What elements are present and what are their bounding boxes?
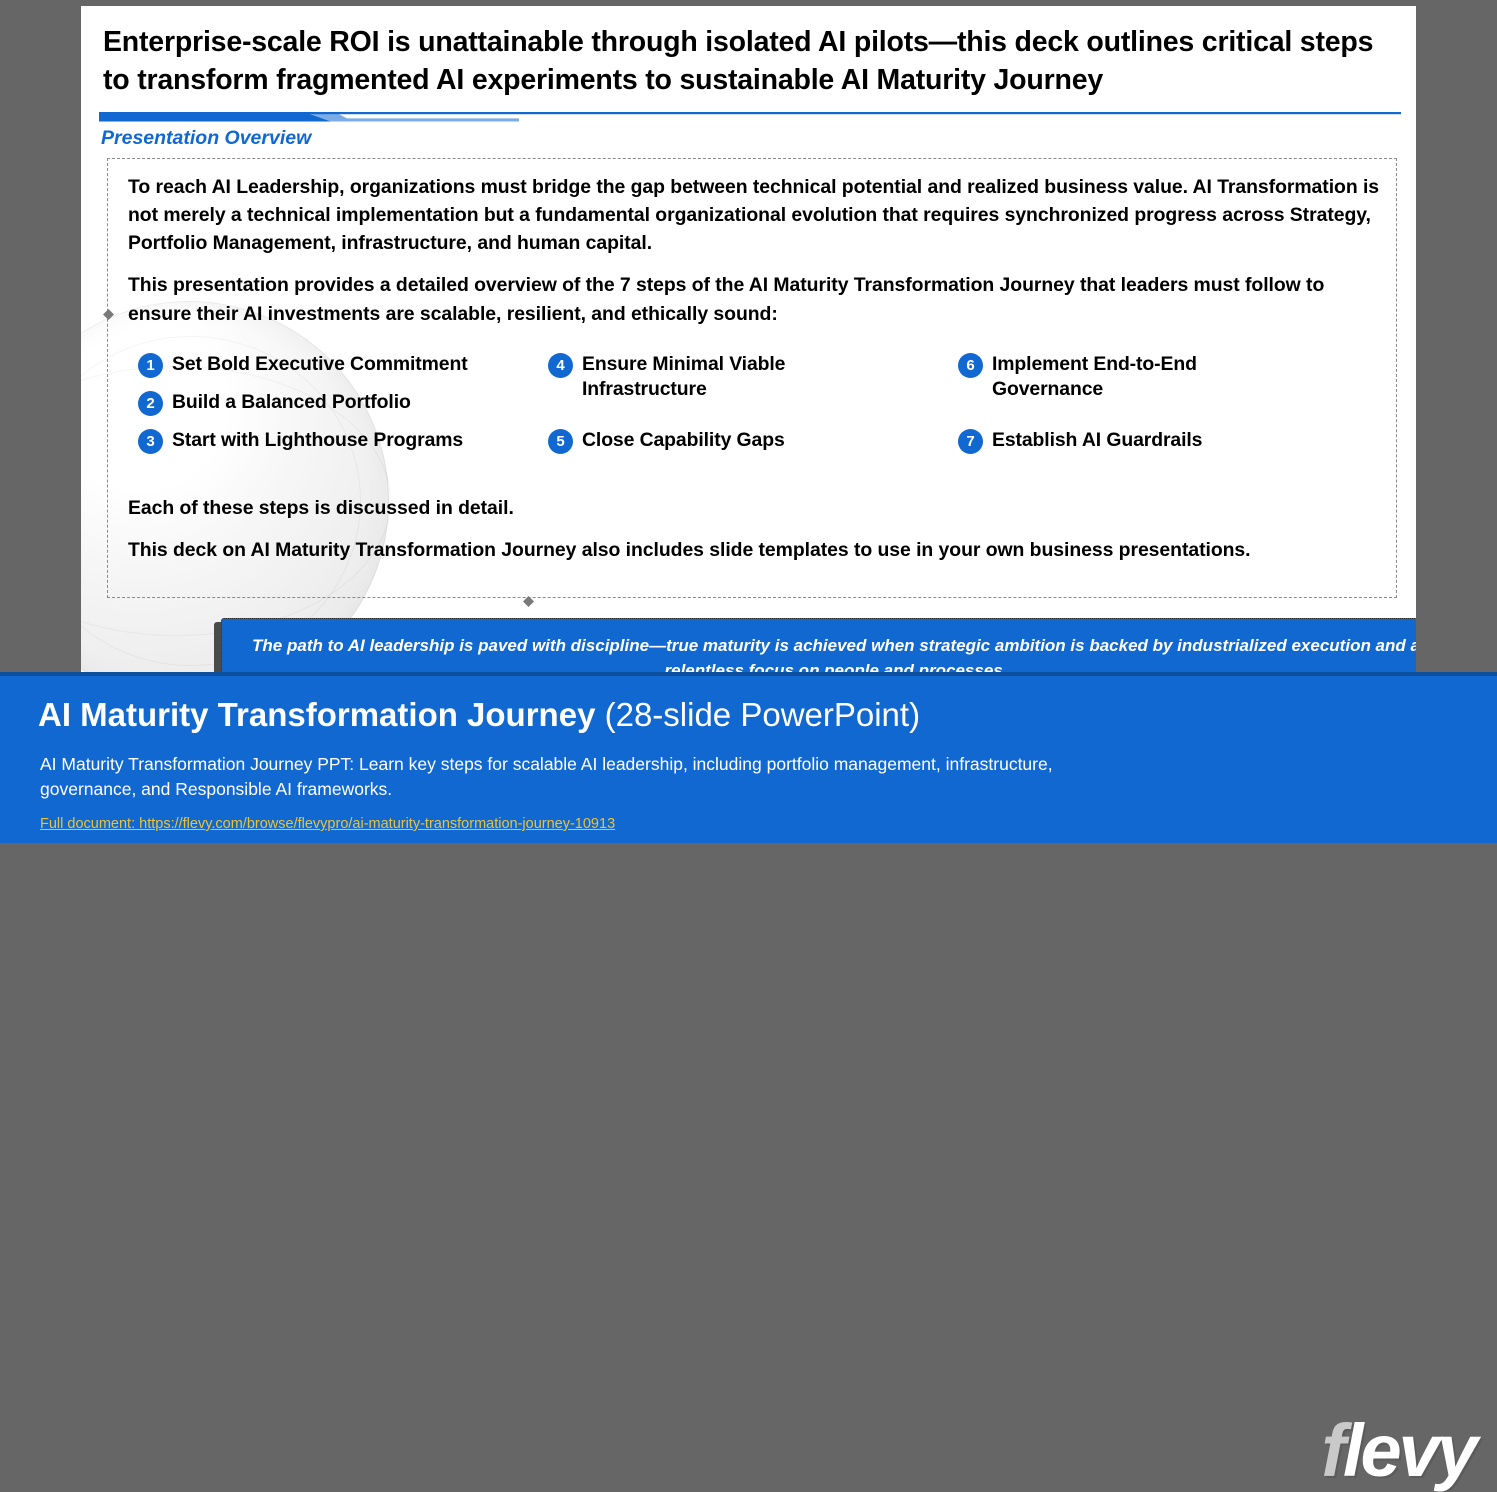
step-item-5[interactable]: 5 Close Capability Gaps <box>548 423 958 461</box>
callout-text: The path to AI leadership is paved with … <box>252 634 1416 672</box>
footer-document-link[interactable]: Full document: https://flevy.com/browse/… <box>40 816 615 832</box>
overview-tail: Each of these steps is discussed in deta… <box>128 494 1380 578</box>
slide-canvas: Enterprise-scale ROI is unattainable thr… <box>81 6 1416 672</box>
step-number-badge-6: 6 <box>958 353 983 378</box>
footer-product-title: AI Maturity Transformation Journey (28-s… <box>38 696 920 734</box>
steps-grid: 1 Set Bold Executive Commitment 2 Build … <box>138 347 1378 461</box>
flevy-logo-rest: levy <box>1343 1409 1475 1492</box>
step-number-badge-5: 5 <box>548 429 573 454</box>
callout-box: The path to AI leadership is paved with … <box>221 618 1416 672</box>
resize-handle-bottom-icon[interactable] <box>523 596 534 607</box>
footer-title-light: (28-slide PowerPoint) <box>595 696 920 733</box>
step-item-1[interactable]: 1 Set Bold Executive Commitment <box>138 347 548 385</box>
section-label: Presentation Overview <box>101 127 311 150</box>
presentation-overview-box[interactable]: To reach AI Leadership, organizations mu… <box>107 158 1397 598</box>
overview-intro: To reach AI Leadership, organizations mu… <box>128 173 1380 342</box>
step-label-1: Set Bold Executive Commitment <box>172 352 468 377</box>
step-label-2: Build a Balanced Portfolio <box>172 390 411 415</box>
screenshot-root: Enterprise-scale ROI is unattainable thr… <box>0 0 1497 843</box>
step-number-badge-3: 3 <box>138 429 163 454</box>
step-number-badge-7: 7 <box>958 429 983 454</box>
flevy-logo-f: f <box>1321 1409 1343 1492</box>
step-number-badge-2: 2 <box>138 391 163 416</box>
intro-paragraph-2: This presentation provides a detailed ov… <box>128 271 1380 327</box>
key-message-callout: The path to AI leadership is paved with … <box>214 618 1416 672</box>
flevy-logo[interactable]: flevy <box>1321 1414 1475 1488</box>
step-item-7[interactable]: 7 Establish AI Guardrails <box>958 423 1368 461</box>
step-number-badge-1: 1 <box>138 353 163 378</box>
step-item-2[interactable]: 2 Build a Balanced Portfolio <box>138 385 548 423</box>
step-item-6[interactable]: 6 Implement End-to-End Governance <box>958 347 1368 423</box>
slide-title: Enterprise-scale ROI is unattainable thr… <box>103 24 1393 99</box>
step-label-7: Establish AI Guardrails <box>992 428 1202 453</box>
resize-handle-left-icon[interactable] <box>103 309 114 320</box>
tail-paragraph-1: Each of these steps is discussed in deta… <box>128 494 1380 522</box>
step-label-3: Start with Lighthouse Programs <box>172 428 463 453</box>
title-divider <box>99 112 1401 124</box>
flevy-footer-bar: AI Maturity Transformation Journey (28-s… <box>0 672 1497 843</box>
step-label-4: Ensure Minimal Viable Infrastructure <box>582 352 882 402</box>
footer-description: AI Maturity Transformation Journey PPT: … <box>40 752 1100 803</box>
step-item-3[interactable]: 3 Start with Lighthouse Programs <box>138 423 548 461</box>
footer-title-bold: AI Maturity Transformation Journey <box>38 696 595 733</box>
step-label-6: Implement End-to-End Governance <box>992 352 1292 402</box>
step-number-badge-4: 4 <box>548 353 573 378</box>
intro-paragraph-1: To reach AI Leadership, organizations mu… <box>128 173 1380 257</box>
tail-paragraph-2: This deck on AI Maturity Transformation … <box>128 536 1380 564</box>
step-label-5: Close Capability Gaps <box>582 428 785 453</box>
step-item-4[interactable]: 4 Ensure Minimal Viable Infrastructure <box>548 347 958 423</box>
